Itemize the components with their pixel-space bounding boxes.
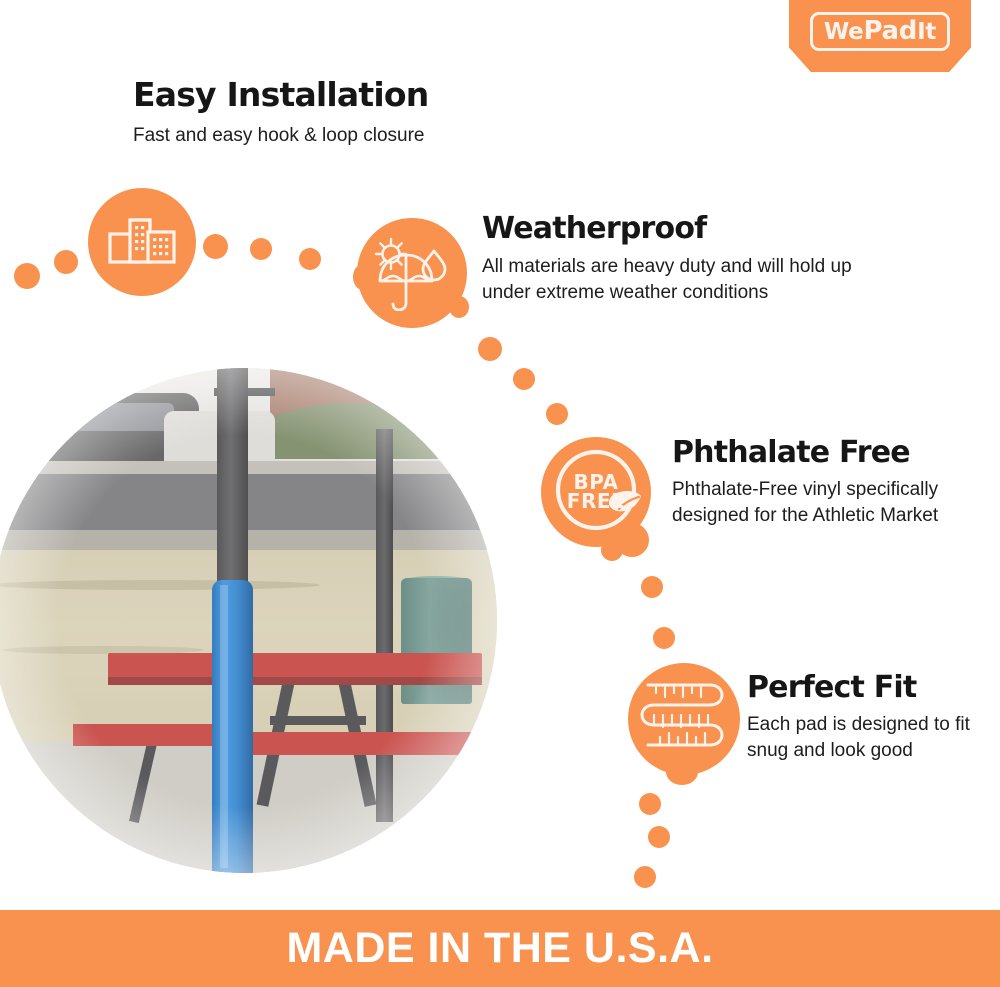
feature-description: Each pad is designed to fit snug and loo… <box>747 712 982 764</box>
logo-text: WePadIt <box>824 19 936 45</box>
feature-perfect-fit: Perfect Fit Each pad is designed to fit … <box>747 672 982 764</box>
brand-logo: WePadIt <box>789 0 971 72</box>
feature-easy-installation: Easy Installation Fast and easy hook & l… <box>133 78 603 149</box>
measuring-tape-icon <box>628 663 740 775</box>
sun-umbrella-raindrop-icon <box>357 218 467 328</box>
feature-description: Fast and easy hook & loop closure <box>133 123 603 149</box>
path-dot <box>653 627 675 649</box>
logo-text-it: It <box>917 19 936 45</box>
path-dot <box>641 576 663 598</box>
logo-text-pad: Pad <box>863 16 917 46</box>
path-dot <box>299 248 321 270</box>
feature-title: Weatherproof <box>482 213 902 245</box>
path-dot <box>546 403 568 425</box>
path-dot <box>648 826 670 848</box>
feature-title: Easy Installation <box>133 78 603 113</box>
path-dot <box>513 368 535 390</box>
feature-title: Perfect Fit <box>747 672 982 704</box>
feature-phthalate-free: Phthalate Free Phthalate-Free vinyl spec… <box>672 437 972 529</box>
circle-bump <box>353 264 373 290</box>
feature-weatherproof: Weatherproof All materials are heavy dut… <box>482 213 902 306</box>
feature-description: Phthalate-Free vinyl specifically design… <box>672 477 972 529</box>
path-dot <box>203 234 228 259</box>
feature-description: All materials are heavy duty and will ho… <box>482 254 902 306</box>
path-dot <box>54 250 78 274</box>
logo-plate: WePadIt <box>810 12 950 51</box>
made-in-usa-text: MADE IN THE U.S.A. <box>286 924 713 973</box>
circle-bump <box>666 759 698 785</box>
infographic-canvas: WePadIt <box>0 0 1000 987</box>
path-dot <box>14 263 40 289</box>
feature-title: Phthalate Free <box>672 437 972 469</box>
buildings-icon <box>88 188 196 296</box>
logo-text-we: We <box>824 19 864 45</box>
circle-bump <box>449 296 469 318</box>
path-dot <box>634 866 656 888</box>
product-photo <box>0 368 497 873</box>
path-dot <box>639 793 661 815</box>
made-in-usa-banner: MADE IN THE U.S.A. <box>0 910 1000 987</box>
bpa-free-leaf-icon: BPA FREE <box>541 437 651 547</box>
path-dot <box>478 337 502 361</box>
path-dot <box>250 238 272 260</box>
